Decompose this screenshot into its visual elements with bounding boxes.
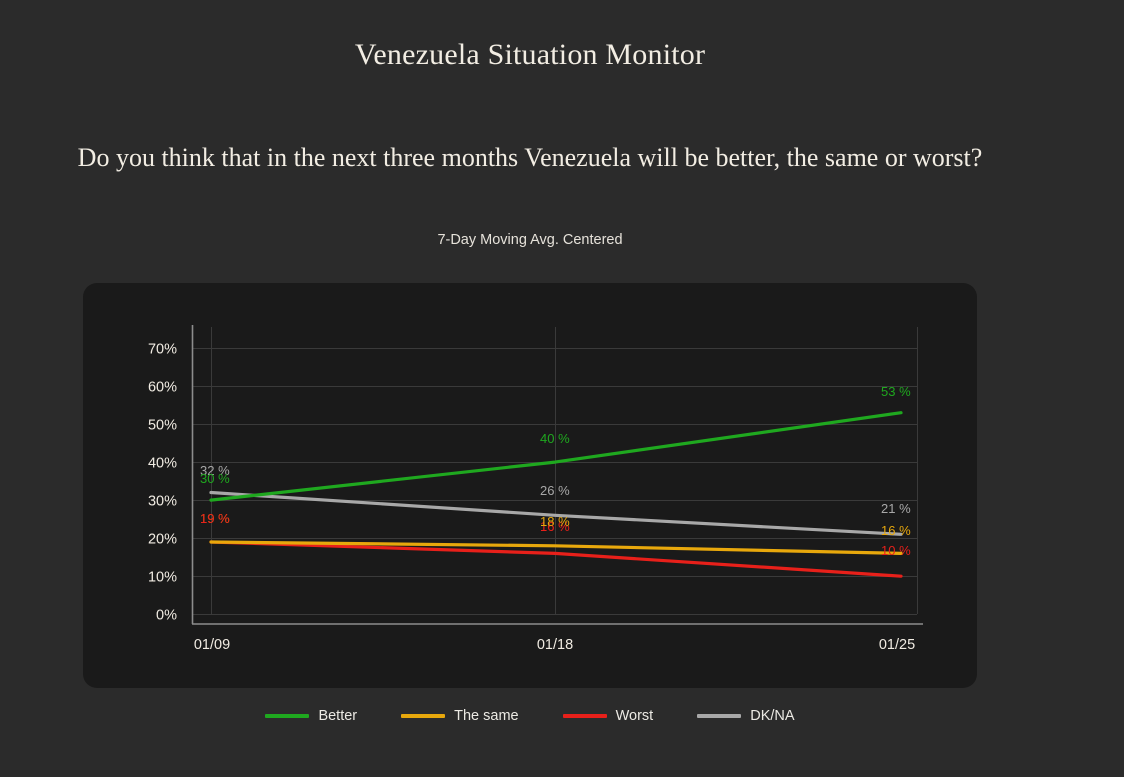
x-tick-0109: 01/09 — [194, 637, 230, 653]
legend-swatch-dkna-icon — [697, 714, 741, 718]
chart-question-title: Do you think that in the next three mont… — [60, 138, 1000, 177]
chart-subtitle: 7-Day Moving Avg. Centered — [0, 232, 1060, 248]
label-worst-0125: 10 % — [881, 543, 911, 558]
label-the-same-0125: 16 % — [881, 523, 911, 538]
line-chart[interactable]: 70% 60% 50% 40% 30% 20% 10% 0% 01/09 01/… — [83, 283, 977, 688]
label-better-0118: 40 % — [540, 431, 570, 446]
page-title: Venezuela Situation Monitor — [0, 38, 1060, 72]
legend-label-dkna: DK/NA — [750, 708, 794, 724]
legend-swatch-the-same-icon — [401, 714, 445, 718]
legend-item-worst[interactable]: Worst — [563, 708, 654, 724]
y-tick-60: 60% — [148, 380, 177, 396]
label-dkna-0118: 26 % — [540, 483, 570, 498]
y-axis-tick-labels: 70% 60% 50% 40% 30% 20% 10% 0% — [148, 342, 177, 624]
y-tick-0: 0% — [156, 608, 177, 624]
y-tick-20: 20% — [148, 532, 177, 548]
legend-item-the-same[interactable]: The same — [401, 708, 518, 724]
label-better-0125: 53 % — [881, 384, 911, 399]
y-tick-50: 50% — [148, 418, 177, 434]
x-axis-tick-labels: 01/09 01/18 01/25 — [194, 637, 915, 653]
chart-legend: Better The same Worst DK/NA — [0, 708, 1060, 724]
legend-label-better: Better — [318, 708, 357, 724]
legend-swatch-worst-icon — [563, 714, 607, 718]
data-labels-end: 53 % 21 % 16 % 10 % — [881, 384, 911, 558]
legend-item-better[interactable]: Better — [265, 708, 357, 724]
legend-label-the-same: The same — [454, 708, 518, 724]
label-better-0109: 30 % — [200, 471, 230, 486]
y-tick-30: 30% — [148, 494, 177, 510]
label-worst-0109: 19 % — [200, 511, 230, 526]
app-root: Venezuela Situation Monitor Do you think… — [0, 0, 1124, 777]
x-tick-0118: 01/18 — [537, 637, 573, 653]
y-tick-40: 40% — [148, 456, 177, 472]
legend-item-dkna[interactable]: DK/NA — [697, 708, 794, 724]
y-tick-70: 70% — [148, 342, 177, 358]
label-dkna-0125: 21 % — [881, 501, 911, 516]
y-tick-10: 10% — [148, 570, 177, 586]
label-the-same-0118: 18 % — [540, 514, 570, 529]
axis-spines — [192, 325, 923, 624]
legend-swatch-better-icon — [265, 714, 309, 718]
x-tick-0125: 01/25 — [879, 637, 915, 653]
chart-card: 70% 60% 50% 40% 30% 20% 10% 0% 01/09 01/… — [83, 283, 977, 688]
legend-label-worst: Worst — [616, 708, 654, 724]
